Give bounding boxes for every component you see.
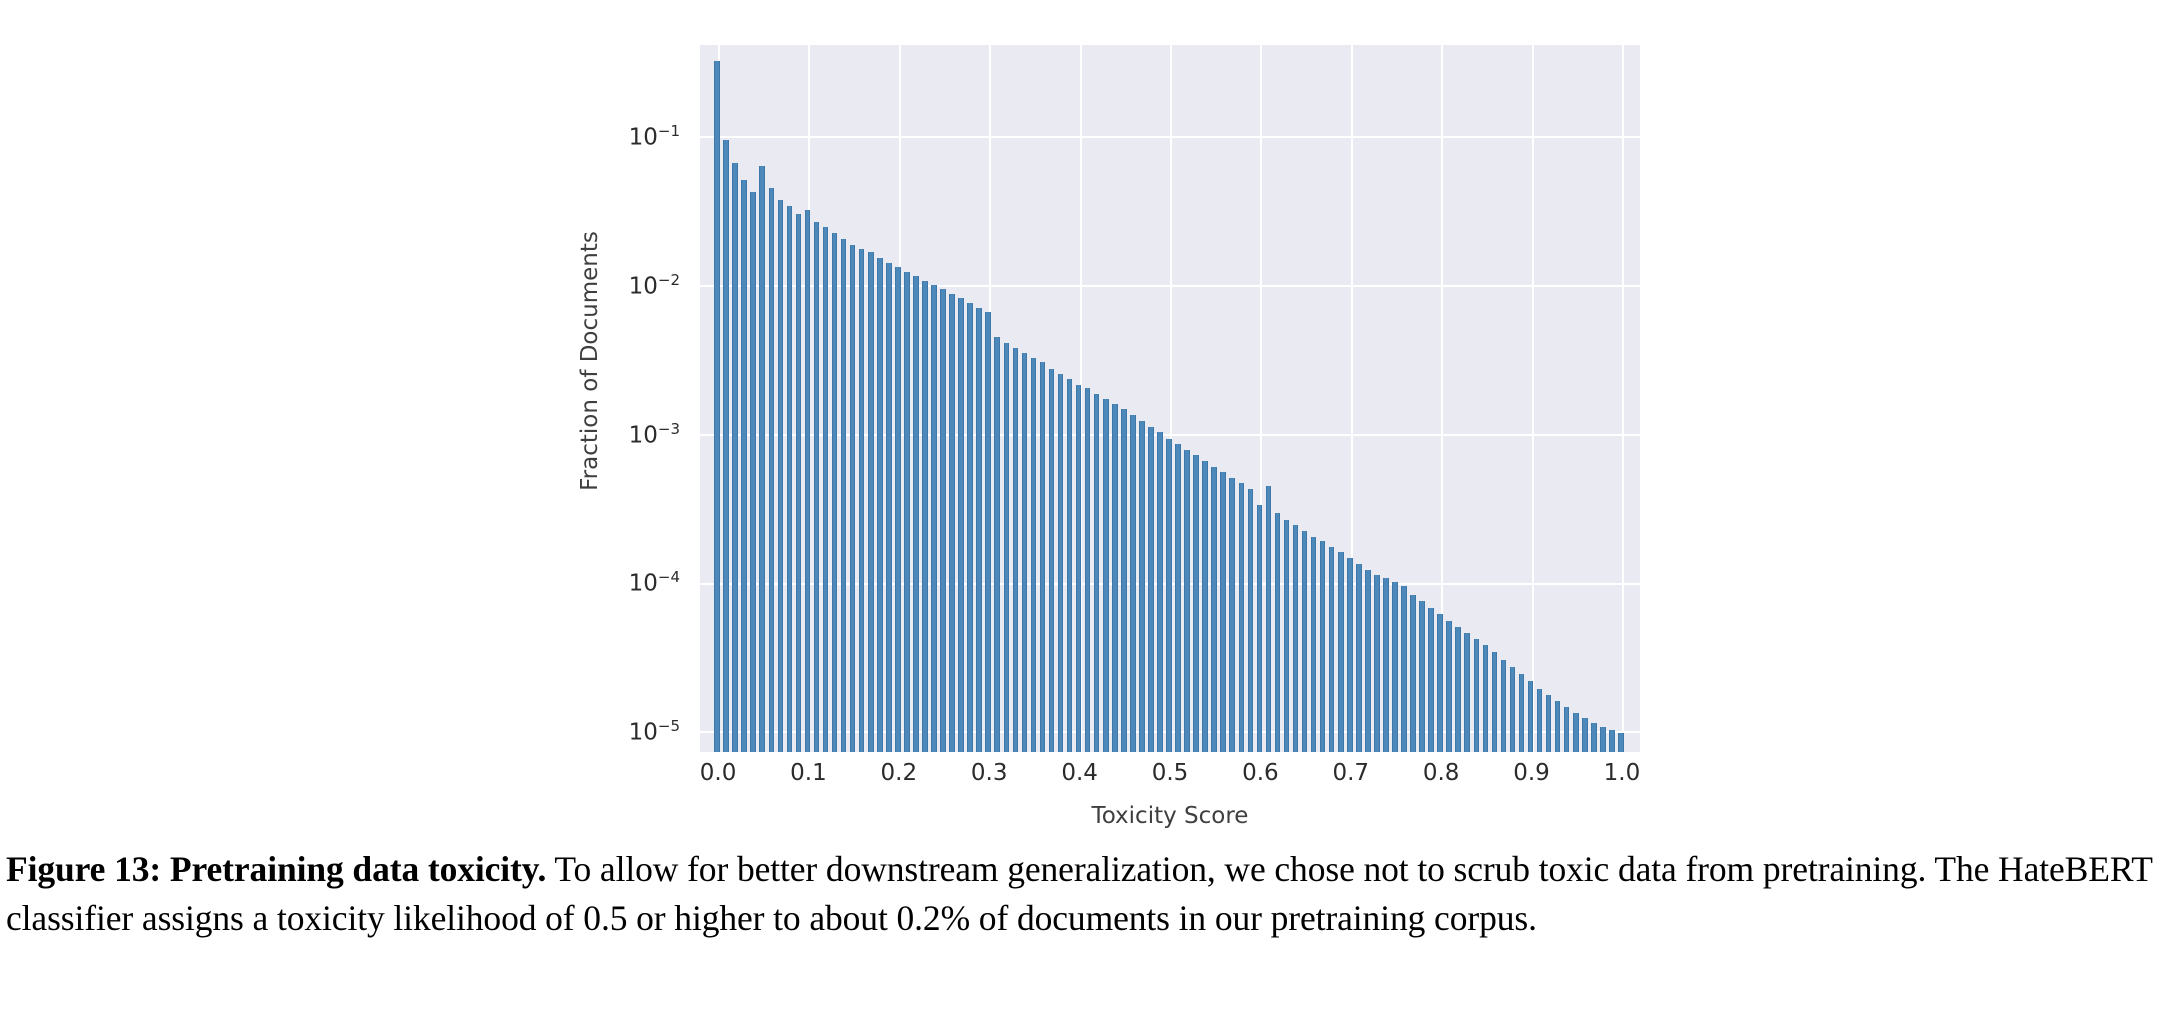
histogram-bar [1211, 467, 1217, 752]
histogram-bar [1175, 444, 1181, 752]
histogram-bar [1184, 450, 1190, 752]
histogram-bar [877, 258, 883, 752]
histogram-bar [732, 163, 738, 752]
histogram-bar [1220, 472, 1226, 752]
histogram-bar [1347, 558, 1353, 752]
histogram-bar [1031, 358, 1037, 752]
histogram-bar [1166, 439, 1172, 752]
histogram-bar [895, 267, 901, 752]
histogram-bar [1094, 394, 1100, 752]
histogram-bar [859, 249, 865, 752]
histogram-bar [1410, 595, 1416, 752]
histogram-bar [1130, 415, 1136, 752]
histogram-bar [994, 337, 1000, 752]
x-axis-label: Toxicity Score [700, 803, 1640, 829]
histogram-bar [1365, 570, 1371, 752]
histogram-bar [1311, 537, 1317, 752]
histogram-bar [723, 140, 729, 752]
histogram-bar [1528, 681, 1534, 752]
histogram-bar [1229, 478, 1235, 752]
y-tick-label-2: 10−2 [560, 271, 680, 300]
histogram-bar [940, 289, 946, 752]
histogram-bar [1121, 409, 1127, 752]
x-tick-label: 1.0 [1582, 760, 1662, 786]
histogram-bar [1013, 348, 1019, 752]
histogram-bar [1555, 701, 1561, 752]
histogram-bar [1609, 730, 1615, 752]
histogram-bar [1401, 586, 1407, 752]
histogram-bar [1591, 723, 1597, 752]
x-tick-label: 0.2 [859, 760, 939, 786]
y-tick-label-3: 10−3 [560, 420, 680, 449]
histogram-bar [1049, 369, 1055, 752]
histogram-bar [1266, 486, 1272, 752]
gridline-vertical [1622, 45, 1624, 752]
histogram-bar [1419, 601, 1425, 752]
histogram-bar [967, 303, 973, 752]
histogram-bar [1085, 388, 1091, 752]
histogram-bar [796, 214, 802, 752]
histogram-bar [850, 245, 856, 752]
histogram-bar [1157, 432, 1163, 752]
histogram-bar [759, 166, 765, 752]
histogram-bar [1446, 621, 1452, 752]
histogram-bar [1510, 667, 1516, 752]
histogram-bar [832, 233, 838, 752]
histogram-bar [1022, 353, 1028, 752]
histogram-bar [1284, 520, 1290, 752]
histogram-bar [1618, 733, 1624, 752]
histogram-bar [1383, 578, 1389, 752]
histogram-bar [922, 281, 928, 752]
histogram-bar [1374, 575, 1380, 752]
histogram-bar [1564, 707, 1570, 752]
histogram-bar [1501, 660, 1507, 752]
histogram-bar [985, 312, 991, 752]
histogram-bar [1302, 531, 1308, 752]
histogram-bar [814, 222, 820, 752]
plot-area [700, 45, 1640, 752]
histogram-bar [1329, 547, 1335, 753]
histogram-bar [778, 200, 784, 752]
x-tick-label: 0.0 [678, 760, 758, 786]
histogram-bar [1546, 695, 1552, 752]
histogram-bar [1428, 608, 1434, 752]
histogram-bar [1076, 385, 1082, 752]
histogram-bar [904, 272, 910, 752]
histogram-bar [976, 308, 982, 752]
histogram-bar [750, 192, 756, 752]
histogram-bar [1519, 674, 1525, 752]
gridline-vertical [1532, 45, 1534, 752]
histogram-bar [1320, 541, 1326, 752]
x-tick-label: 0.5 [1130, 760, 1210, 786]
x-tick-label: 0.7 [1311, 760, 1391, 786]
histogram-bar [1437, 614, 1443, 752]
y-tick-label-5: 10−5 [560, 717, 680, 746]
y-tick-label-4: 10−4 [560, 568, 680, 597]
histogram-bar [1112, 404, 1118, 752]
histogram-bar [1103, 399, 1109, 752]
histogram-bar [1455, 627, 1461, 752]
x-tick-label: 0.3 [949, 760, 1029, 786]
histogram-bar [868, 252, 874, 752]
y-tick-label-1: 10−1 [560, 122, 680, 151]
histogram-bar [1248, 489, 1254, 752]
histogram-bar [714, 61, 720, 752]
histogram-bar [841, 239, 847, 752]
histogram-bar [913, 276, 919, 752]
histogram-bar [1293, 525, 1299, 752]
histogram-bar [1139, 421, 1145, 752]
histogram-bar [886, 263, 892, 752]
histogram-bar [931, 285, 937, 752]
x-tick-label: 0.1 [768, 760, 848, 786]
histogram-bar [1202, 461, 1208, 752]
histogram-bar [787, 206, 793, 752]
histogram-bar [1338, 552, 1344, 752]
x-tick-label: 0.8 [1401, 760, 1481, 786]
figure-13-block: Fraction of Documents 10−1 10−2 10−3 10−… [0, 0, 2182, 830]
histogram-bar [805, 210, 811, 753]
histogram-bar [1004, 343, 1010, 752]
caption-label: Figure 13: [6, 849, 161, 889]
caption-title: Pretraining data toxicity. [170, 849, 546, 889]
histogram-bar [741, 180, 747, 752]
histogram-bar [1148, 427, 1154, 752]
histogram-bar [1582, 718, 1588, 752]
toxicity-histogram-chart: Fraction of Documents 10−1 10−2 10−3 10−… [520, 18, 1700, 818]
histogram-bar [1464, 633, 1470, 752]
histogram-bar [1573, 713, 1579, 752]
histogram-bar [1356, 564, 1362, 752]
histogram-bar [1275, 513, 1281, 752]
histogram-bar [1474, 639, 1480, 752]
histogram-bar [823, 227, 829, 752]
histogram-bar [1040, 362, 1046, 752]
histogram-bar [949, 294, 955, 752]
x-tick-label: 0.4 [1040, 760, 1120, 786]
histogram-bar [1067, 379, 1073, 752]
histogram-bar [1392, 582, 1398, 752]
histogram-bar [1483, 645, 1489, 752]
histogram-bar [1600, 727, 1606, 752]
histogram-bar [1239, 483, 1245, 752]
x-tick-label: 0.9 [1492, 760, 1572, 786]
histogram-bar [958, 298, 964, 752]
histogram-bar [1193, 455, 1199, 752]
figure-caption: Figure 13: Pretraining data toxicity. To… [6, 845, 2182, 943]
histogram-bar [1492, 652, 1498, 752]
histogram-bar [1537, 689, 1543, 752]
histogram-bar [1058, 374, 1064, 752]
histogram-bar [1257, 505, 1263, 752]
histogram-bar [769, 188, 775, 752]
x-tick-label: 0.6 [1220, 760, 1300, 786]
y-axis-label: Fraction of Documents [577, 131, 603, 591]
